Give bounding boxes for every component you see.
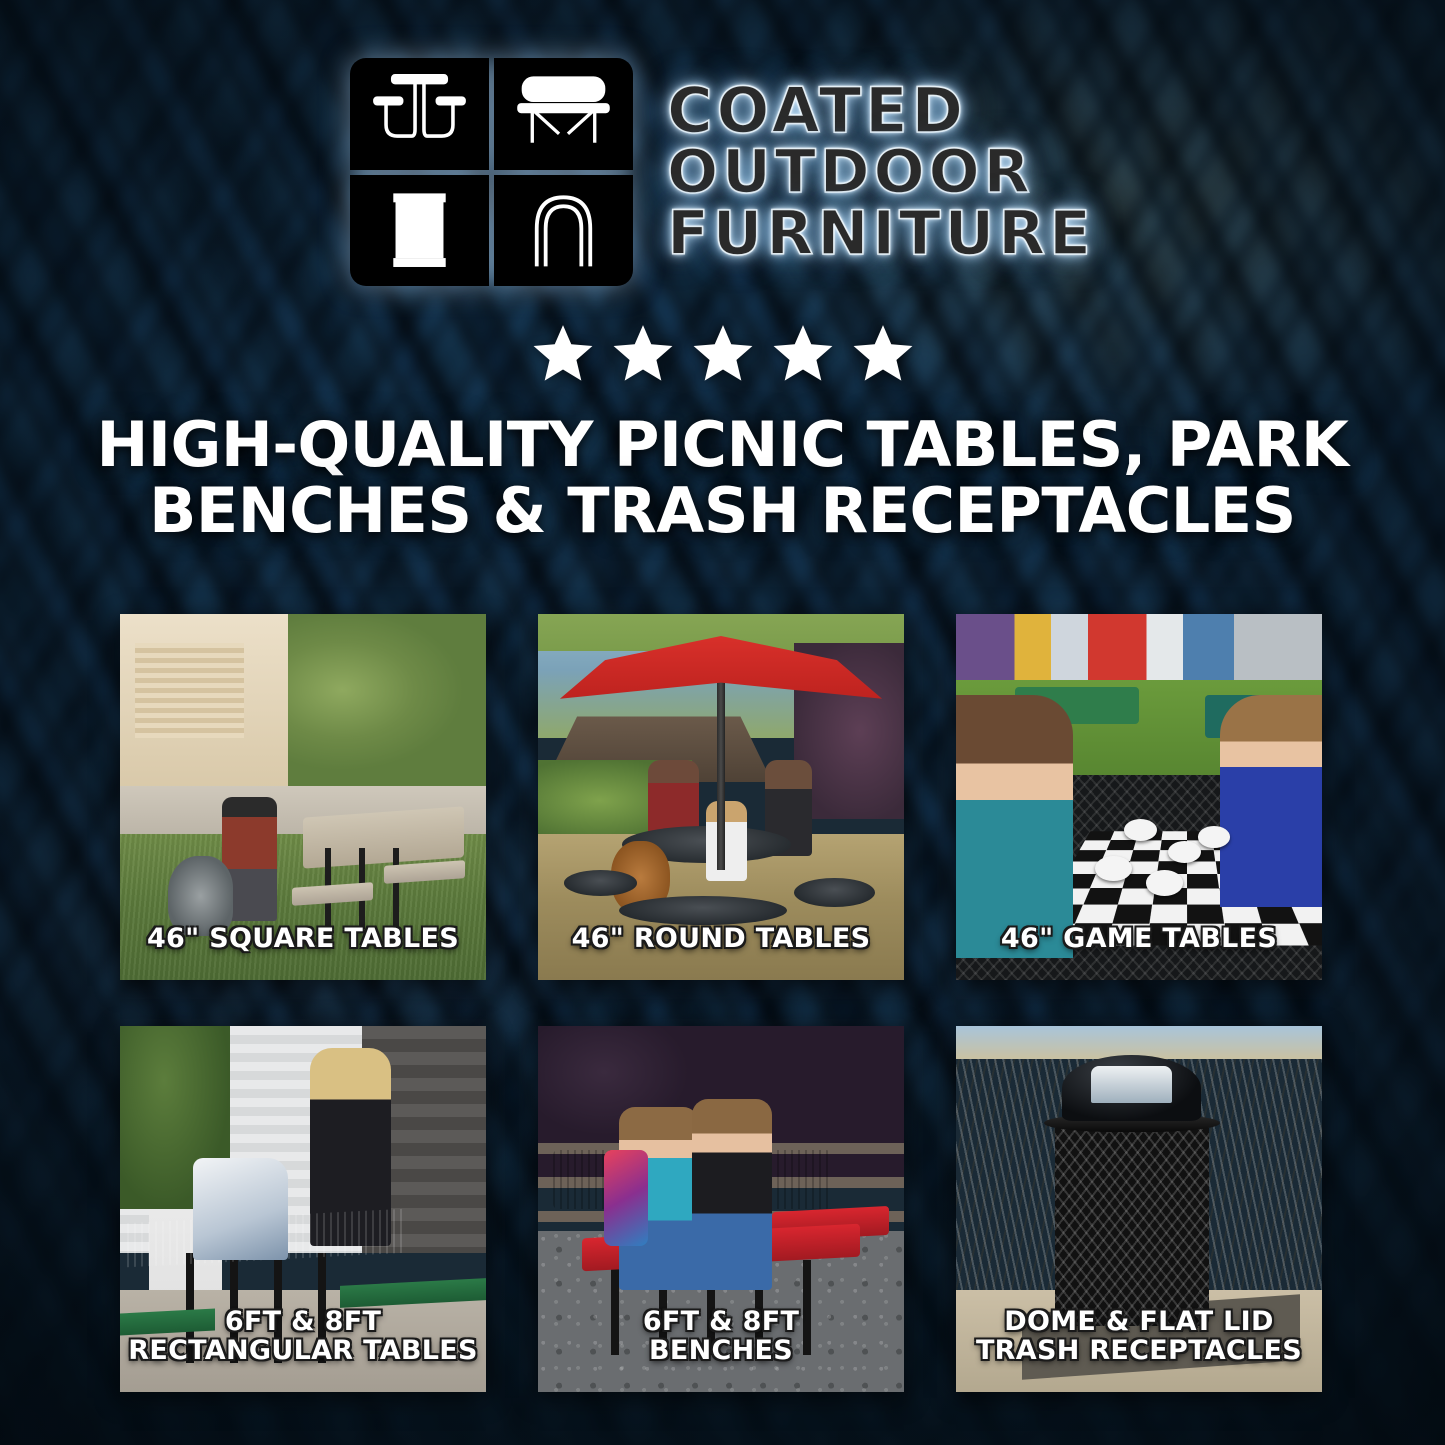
star-icon (691, 322, 755, 384)
product-tile-round-tables[interactable]: 46" ROUND TABLES (538, 614, 904, 980)
caption-line-1: DOME & FLAT LID (1004, 1306, 1273, 1337)
brand-wordmark: COATED OUTDOOR FURNITURE (667, 79, 1095, 266)
caption-line-1: 6FT & 8FT (225, 1306, 381, 1337)
headline-line-2: BENCHES & TRASH RECEPTACLES (60, 478, 1385, 544)
bike-rack-arch-icon (494, 175, 633, 287)
caption-line-1: 6FT & 8FT (643, 1306, 799, 1337)
star-icon (531, 322, 595, 384)
trash-receptacle-icon (350, 175, 489, 287)
star-icon (851, 322, 915, 384)
product-caption: 6FT & 8FT BENCHES (538, 1307, 904, 1366)
bench-table-icon (494, 58, 633, 170)
product-tile-game-tables[interactable]: 46" GAME TABLES (956, 614, 1322, 980)
caption-line-1: 46" ROUND TABLES (572, 923, 871, 954)
product-caption: DOME & FLAT LID TRASH RECEPTACLES (956, 1307, 1322, 1366)
caption-line-2: BENCHES (538, 1336, 904, 1366)
product-caption: 46" GAME TABLES (956, 924, 1322, 954)
headline: HIGH-QUALITY PICNIC TABLES, PARK BENCHES… (0, 412, 1445, 543)
header: COATED OUTDOOR FURNITURE HIGH-QUALITY PI… (0, 58, 1445, 543)
headline-line-1: HIGH-QUALITY PICNIC TABLES, PARK (60, 412, 1385, 478)
logo-icon-grid (350, 58, 633, 286)
product-caption: 46" SQUARE TABLES (120, 924, 486, 954)
star-icon (771, 322, 835, 384)
caption-line-1: 46" GAME TABLES (1001, 923, 1277, 954)
caption-line-2: TRASH RECEPTACLES (956, 1336, 1322, 1366)
wordmark-line-3: FURNITURE (667, 203, 1095, 265)
star-rating (0, 322, 1445, 384)
product-tile-rectangular-tables[interactable]: 6FT & 8FT RECTANGULAR TABLES (120, 1026, 486, 1392)
promotional-banner: COATED OUTDOOR FURNITURE HIGH-QUALITY PI… (0, 0, 1445, 1445)
caption-line-2: RECTANGULAR TABLES (120, 1336, 486, 1366)
wordmark-line-1: COATED (667, 79, 967, 142)
star-icon (611, 322, 675, 384)
product-caption: 6FT & 8FT RECTANGULAR TABLES (120, 1307, 486, 1366)
picnic-table-icon (350, 58, 489, 170)
product-tile-trash-receptacles[interactable]: DOME & FLAT LID TRASH RECEPTACLES (956, 1026, 1322, 1392)
product-tile-square-tables[interactable]: 46" SQUARE TABLES (120, 614, 486, 980)
product-caption: 46" ROUND TABLES (538, 924, 904, 954)
product-grid: 46" SQUARE TABLES 46" ROUND TABLES (120, 614, 1326, 1392)
product-tile-benches[interactable]: 6FT & 8FT BENCHES (538, 1026, 904, 1392)
caption-line-1: 46" SQUARE TABLES (147, 923, 459, 954)
wordmark-line-2: OUTDOOR (667, 142, 1034, 203)
brand-logo: COATED OUTDOOR FURNITURE (0, 58, 1445, 286)
